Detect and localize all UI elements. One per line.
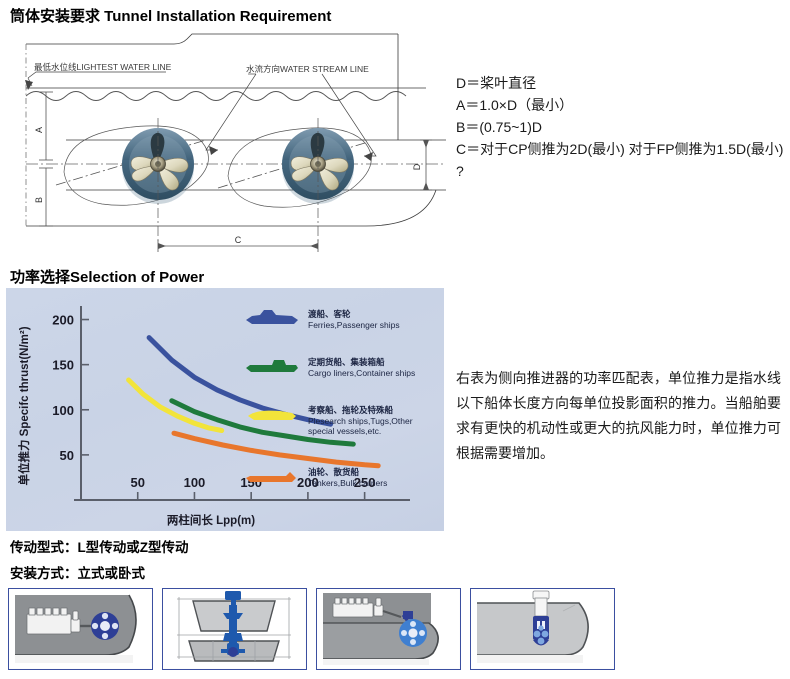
specific-thrust-chart: 50100150200 50100150200250 单位推力 Specifc … xyxy=(6,288,444,531)
dimension-label-c: C xyxy=(235,235,242,245)
chart-series-4 xyxy=(174,433,378,466)
dimension-a xyxy=(39,92,53,160)
streamline-label: 水流方向WATER STREAM LINE xyxy=(246,64,369,74)
legend-ship-icon xyxy=(248,411,296,420)
chart-xtick-label: 100 xyxy=(184,475,206,490)
dimension-label-d: D xyxy=(412,163,422,170)
legend-ship-icon xyxy=(246,360,298,372)
chart-ytick-label: 150 xyxy=(52,358,74,373)
chart-ytick-label: 200 xyxy=(52,313,74,328)
dimension-label-b: B xyxy=(34,197,44,203)
formula-line-c: C＝对于CP侧推为2D(最小) 对于FP侧推为1.5D(最小) xyxy=(456,138,786,160)
legend-ship-icon xyxy=(246,472,296,482)
formula-line-b: B＝(0.75~1)D xyxy=(456,116,786,138)
vertical-z-drive-photo[interactable] xyxy=(162,588,307,670)
legend-label-en: Tankers,Bulk carriers xyxy=(308,478,387,488)
diagram-svg: A B C D 最低水位线LIGHTES xyxy=(6,30,446,262)
legend-item-1: 渡船、客轮Ferries,Passenger ships xyxy=(246,309,400,330)
formula-block: D＝桨叶直径 A＝1.0×D（最小） B＝(0.75~1)D C＝对于CP侧推为… xyxy=(456,72,786,182)
section-title-selection-of-power: 功率选择Selection of Power xyxy=(10,266,204,287)
chart-xtick-label: 50 xyxy=(130,475,144,490)
chart-ylabel: 单位推力 Specifc thrust(N/m²) xyxy=(17,326,31,485)
chart-ytick-label: 100 xyxy=(52,403,74,418)
page-title-tunnel-installation: 筒体安装要求 Tunnel Installation Requirement xyxy=(10,5,331,26)
power-selection-note: 右表为侧向推进器的功率匹配表，单位推力是指水线以下船体长度方向每单位投影面积的推… xyxy=(456,366,781,466)
chart-svg: 50100150200 50100150200250 单位推力 Specifc … xyxy=(6,288,444,531)
dimension-label-a: A xyxy=(34,127,44,133)
engine-room-layout-photo[interactable] xyxy=(316,588,461,670)
tunnel-installation-diagram: A B C D 最低水位线LIGHTES xyxy=(6,30,446,262)
mount-type-line: 安装方式：立式或卧式 xyxy=(10,562,145,582)
chart-xlabel: 两柱间长 Lpp(m) xyxy=(167,513,255,527)
formula-line-question: ? xyxy=(456,160,786,182)
legend-label-cn: 油轮、散货船 xyxy=(308,467,360,477)
legend-label-en: Cargo liners,Container ships xyxy=(308,368,415,378)
legend-label-en: Ferries,Passenger ships xyxy=(308,320,400,330)
chart-series-3 xyxy=(129,380,222,431)
legend-label-cn: 渡船、客轮 xyxy=(308,309,351,319)
hull-mounted-thruster-photo[interactable] xyxy=(470,588,615,670)
legend-label-cn: 定期货船、集装箱船 xyxy=(307,357,385,367)
chart-ytick-label: 50 xyxy=(60,448,74,463)
page-root: 筒体安装要求 Tunnel Installation Requirement xyxy=(0,0,790,679)
formula-line-a: A＝1.0×D（最小） xyxy=(456,94,786,116)
legend-ship-icon xyxy=(246,310,298,324)
horizontal-l-drive-photo[interactable] xyxy=(8,588,153,670)
installation-photo-strip xyxy=(8,588,628,672)
legend-item-2: 定期货船、集装箱船Cargo liners,Container ships xyxy=(246,357,415,378)
drive-type-line: 传动型式：L型传动或Z型传动 xyxy=(10,536,189,556)
legend-label-en: Plesearch ships,Tugs,Other xyxy=(308,416,413,426)
legend-label-en: special vessels,etc. xyxy=(308,426,381,436)
chart-series-1 xyxy=(149,338,331,425)
waterline-label: 最低水位线LIGHTEST WATER LINE xyxy=(34,62,172,72)
legend-item-4: 油轮、散货船Tankers,Bulk carriers xyxy=(246,467,387,488)
legend-label-cn: 考察船、拖轮及特殊船 xyxy=(308,405,394,415)
formula-line-d: D＝桨叶直径 xyxy=(456,72,786,94)
